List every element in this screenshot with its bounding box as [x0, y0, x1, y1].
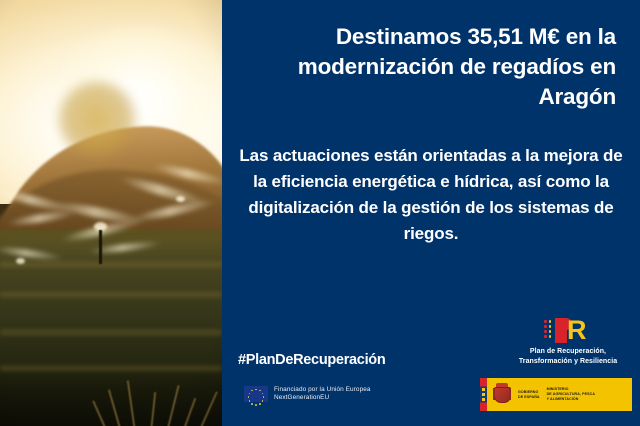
- page-title: Destinamos 35,51 M€ en la modernización …: [250, 22, 616, 112]
- hashtag-label: #PlanDeRecuperación: [238, 352, 385, 368]
- eu-funding-line-1: Financiado por la Unión Europea: [274, 386, 371, 394]
- ministry-name-text: MINISTERIO DE AGRICULTURA, PESCA Y ALIME…: [547, 387, 595, 402]
- recovery-plan-line-2: Transformación y Resiliencia: [508, 357, 628, 367]
- european-union-flag-icon: [244, 386, 268, 402]
- ministry-line-3: Y ALIMENTACIÓN: [547, 397, 595, 402]
- spain-coat-of-arms-icon: [492, 383, 511, 406]
- recovery-plan-text: Plan de Recuperación, Transformación y R…: [508, 347, 628, 366]
- recovery-plan-line-1: Plan de Recuperación,: [508, 347, 628, 357]
- government-flag-field: GOBIERNO DE ESPAÑA MINISTERIO DE AGRICUL…: [487, 378, 632, 411]
- recovery-plan-logo: R Plan de Recuperación, Transformación y…: [508, 316, 628, 366]
- body-text: Las actuaciones están orientadas a la me…: [236, 143, 626, 247]
- government-line-2: DE ESPAÑA: [518, 395, 540, 400]
- pr-letter-p: [555, 318, 567, 343]
- eu-funding-line-2: NextGenerationEU: [274, 394, 371, 402]
- eu-funding-logo: Financiado por la Unión Europea NextGene…: [244, 386, 371, 403]
- government-line-1: GOBIERNO: [518, 390, 540, 395]
- eu-funding-text: Financiado por la Unión Europea NextGene…: [274, 386, 371, 403]
- government-logo: GOBIERNO DE ESPAÑA MINISTERIO DE AGRICUL…: [480, 378, 632, 411]
- government-name-text: GOBIERNO DE ESPAÑA: [518, 390, 540, 400]
- government-flag-bar-icon: [480, 378, 487, 411]
- pr-letter-r: R: [567, 318, 587, 343]
- photo-vignette: [0, 0, 222, 426]
- pr-monogram-icon: R: [542, 316, 594, 344]
- irrigation-sunset-photo: [0, 0, 222, 426]
- content-panel: Destinamos 35,51 M€ en la modernización …: [222, 0, 640, 426]
- poster-root: Destinamos 35,51 M€ en la modernización …: [0, 0, 640, 426]
